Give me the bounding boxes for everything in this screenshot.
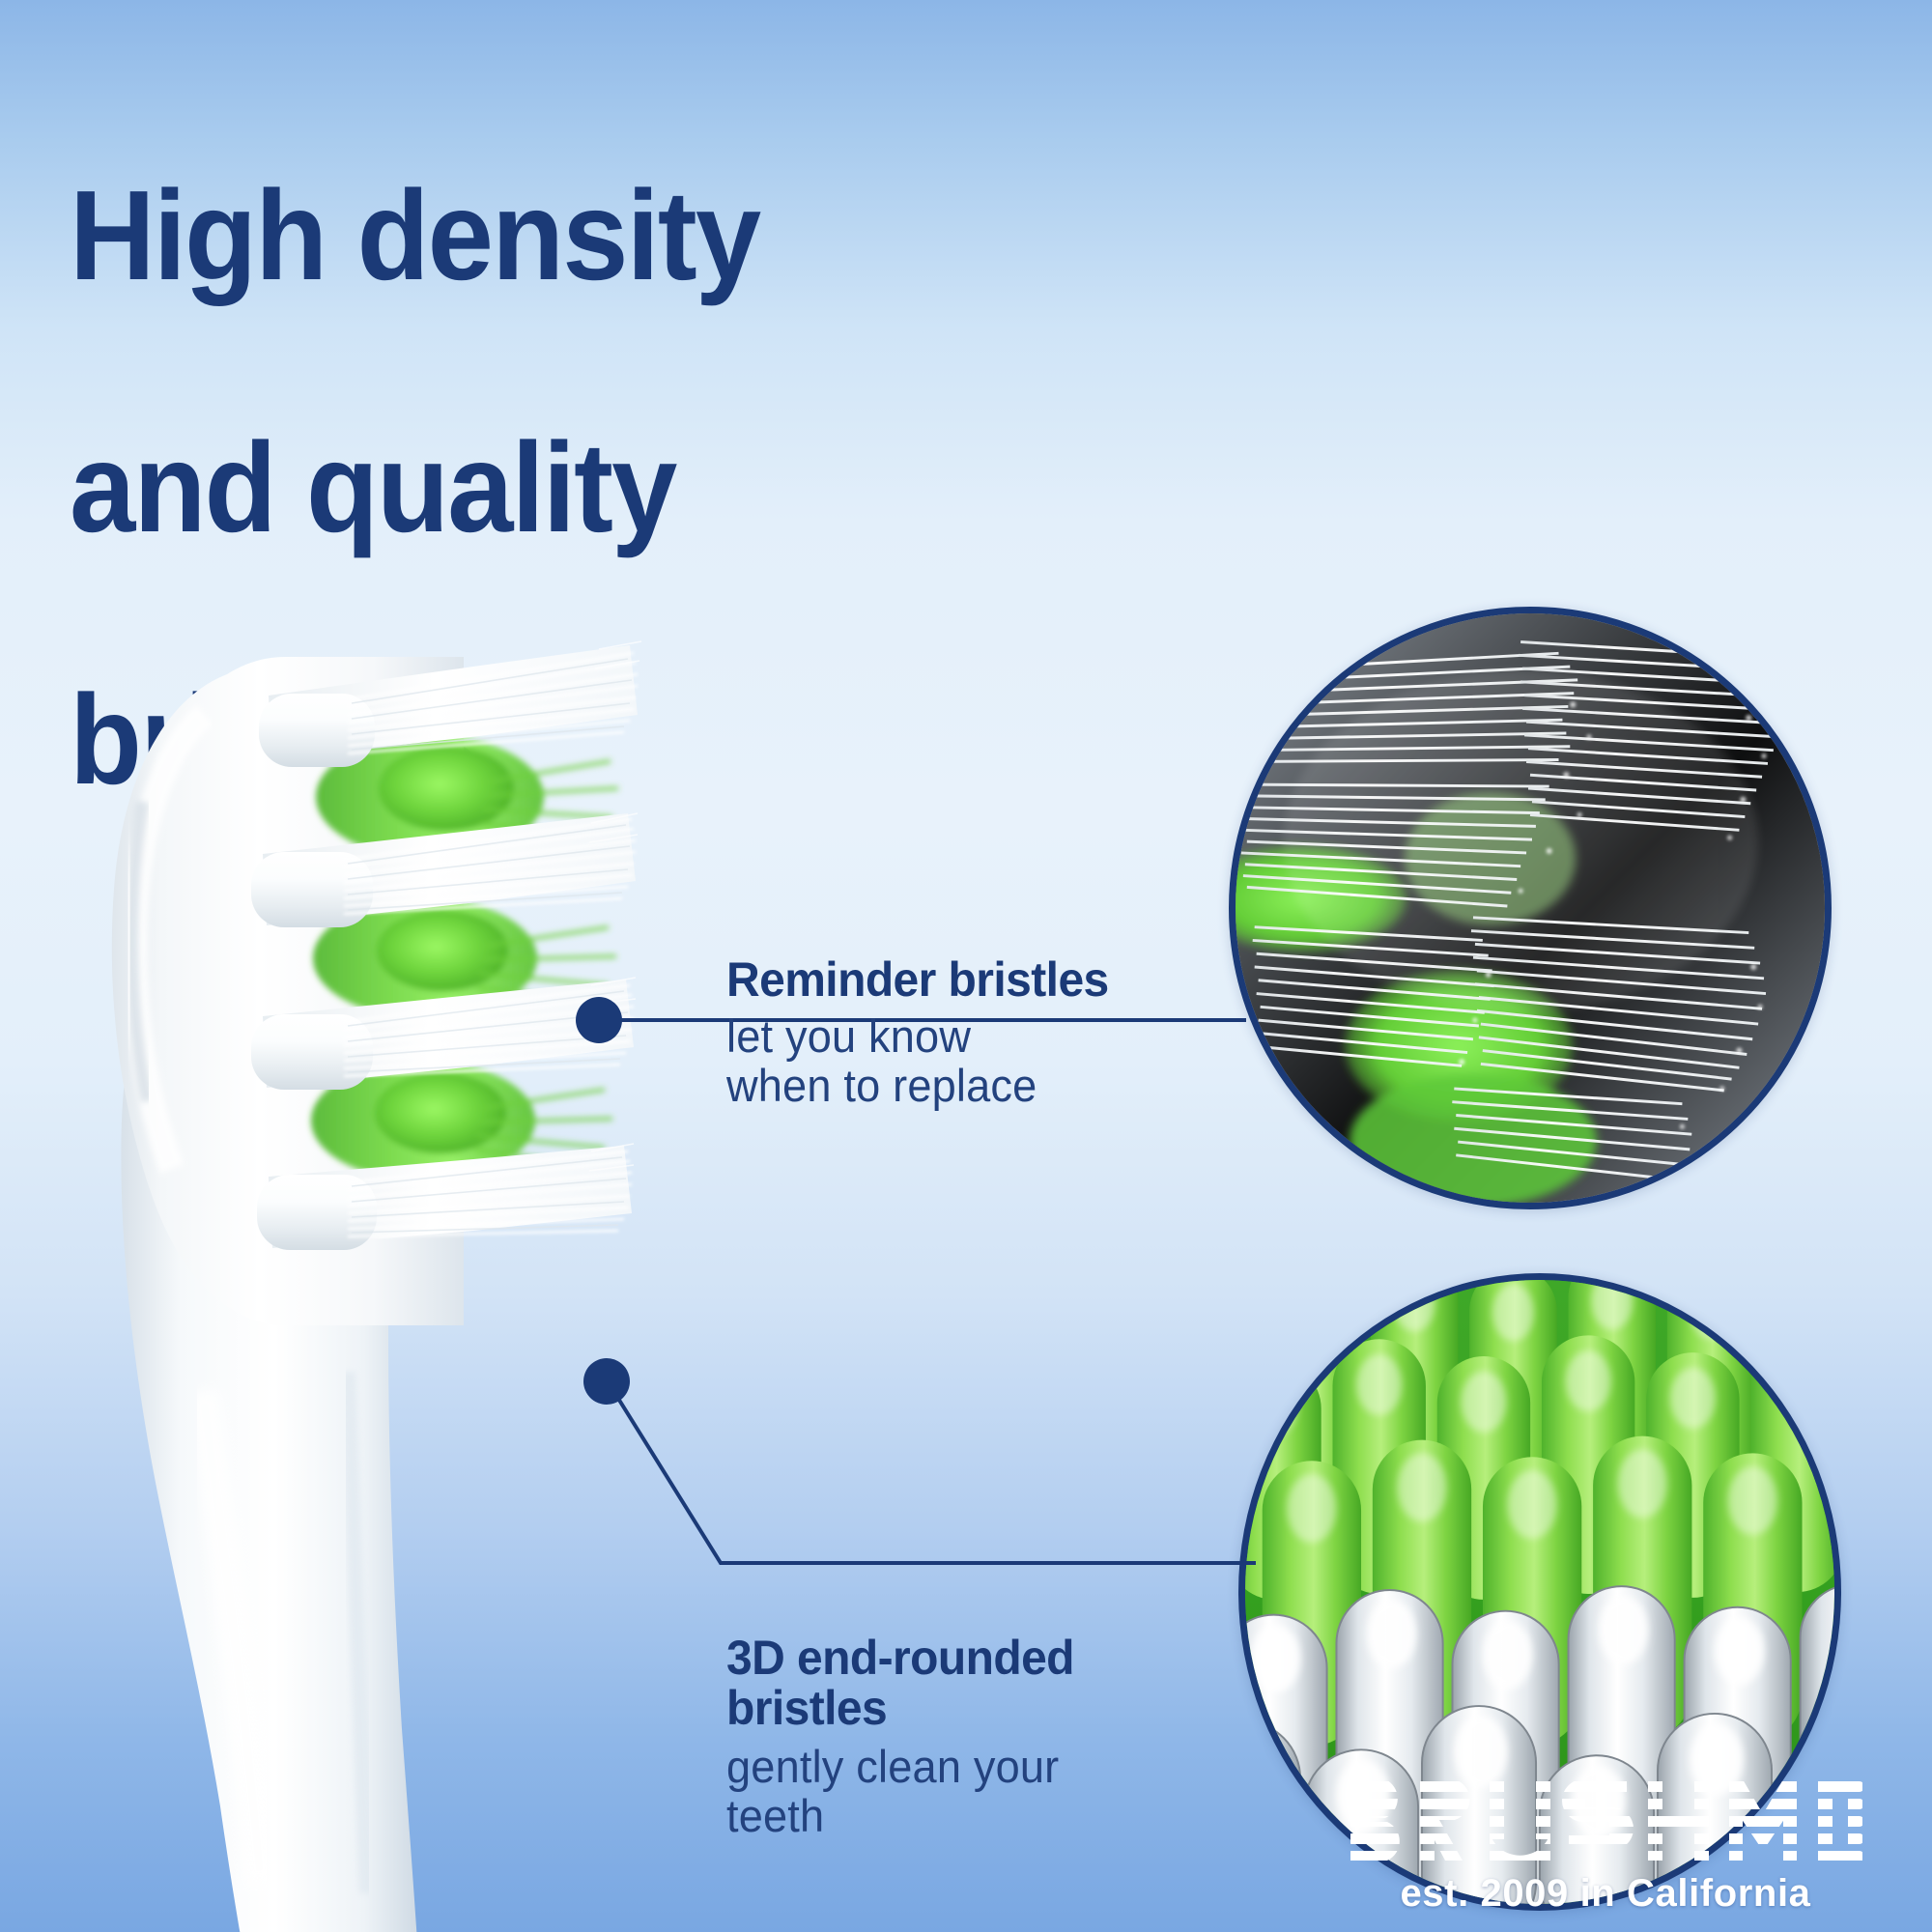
callout-1-heading: Reminder bristles bbox=[726, 954, 1116, 1005]
callout-reminder-bristles: Reminder bristles let you know when to r… bbox=[726, 954, 1132, 1111]
callout-2-heading: 3D end-rounded bristles bbox=[726, 1633, 1116, 1733]
headline-line-2: and quality bbox=[70, 425, 1039, 552]
headline-line-1: High density bbox=[70, 173, 1039, 299]
toothbrush-head-image bbox=[58, 599, 676, 1932]
brushmo-wordmark bbox=[1347, 1776, 1864, 1864]
inset-bristle-macro bbox=[1229, 607, 1832, 1209]
infographic-canvas: High density and quality bristles bbox=[0, 0, 1932, 1932]
brand-lockup: est. 2009 in California bbox=[1316, 1776, 1895, 1916]
callout-2-subtitle: gently clean your teeth bbox=[726, 1743, 1116, 1841]
brand-tagline: est. 2009 in California bbox=[1316, 1872, 1895, 1916]
callout-1-subtitle: let you know when to replace bbox=[726, 1012, 1116, 1111]
callout-end-rounded-bristles: 3D end-rounded bristles gently clean you… bbox=[726, 1633, 1132, 1841]
